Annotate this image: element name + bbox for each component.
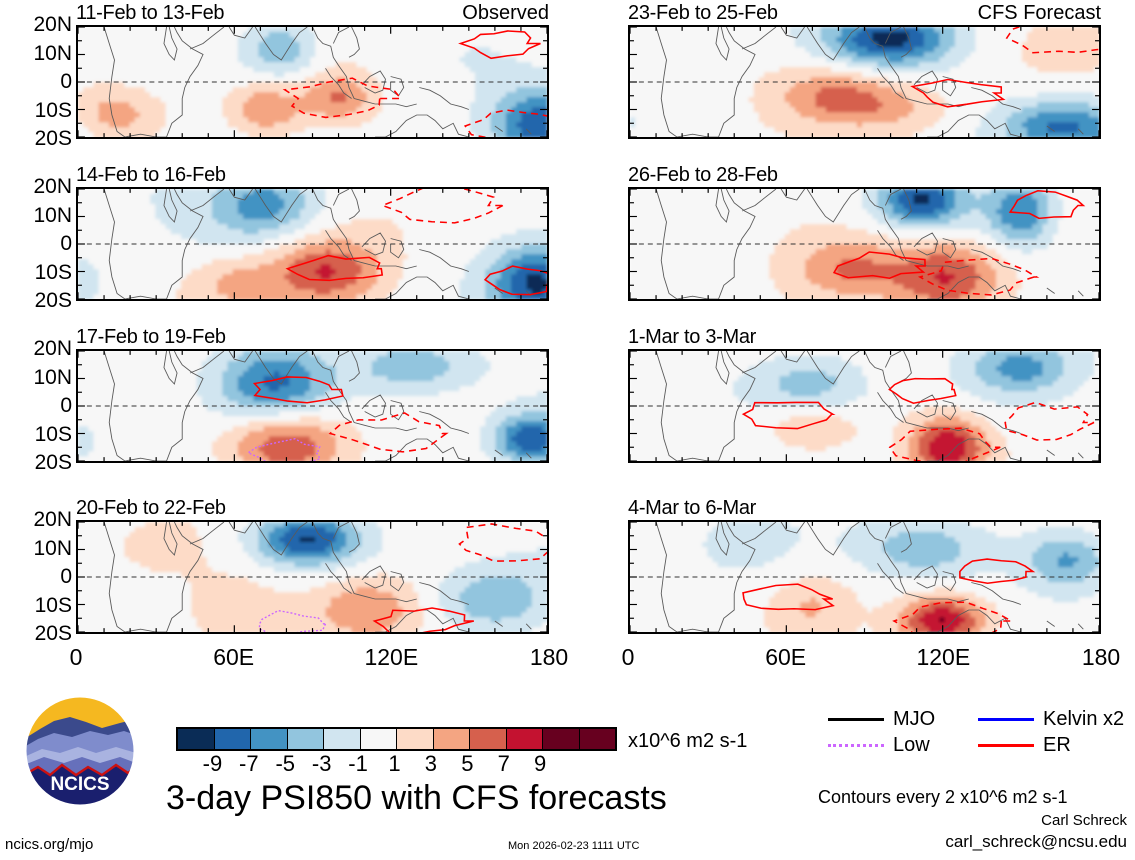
- y-tick-label: 0: [60, 233, 72, 254]
- y-tick-label: 10N: [33, 538, 72, 559]
- colorbar-tick-label: 9: [534, 752, 546, 776]
- colorbar-units-label: x10^6 m2 s-1: [628, 731, 747, 751]
- y-tick-label: 20S: [35, 128, 72, 149]
- map-area: [76, 187, 549, 301]
- panel-column-header: Observed: [462, 3, 549, 23]
- map-area: [76, 520, 549, 634]
- y-axis-labels: 20N10N010S20S: [4, 25, 72, 139]
- colorbar-tick-label: 5: [461, 752, 473, 776]
- y-axis-labels: 20N10N010S20S: [4, 187, 72, 301]
- colorbar-swatch: [434, 729, 471, 749]
- legend-row-top: MJO Kelvin x2: [828, 706, 1128, 732]
- colorbar-swatch: [215, 729, 252, 749]
- map-panel-obs-17-19-feb: 17-Feb to 19-Feb: [76, 349, 549, 463]
- map-area: [628, 25, 1101, 139]
- x-tick-label: 0: [588, 646, 668, 669]
- x-tick-label: 60E: [194, 646, 274, 669]
- y-tick-label: 10S: [35, 262, 72, 283]
- map-panel-cfs-23-25-feb: 23-Feb to 25-FebCFS Forecast: [628, 25, 1101, 139]
- colorbar-swatch: [470, 729, 507, 749]
- map-panel-obs-20-22-feb: 20-Feb to 22-Feb: [76, 520, 549, 634]
- y-tick-label: 10N: [33, 43, 72, 64]
- x-tick-label: 180: [1061, 646, 1135, 669]
- y-tick-label: 0: [60, 71, 72, 92]
- colorbar-tick-label: -5: [275, 752, 295, 776]
- y-tick-label: 10S: [35, 595, 72, 616]
- legend-item-mjo: MJO: [828, 709, 978, 729]
- legend-item-low: Low: [828, 735, 978, 755]
- y-tick-label: 20N: [33, 14, 72, 35]
- mjo-line-icon: [828, 718, 884, 721]
- colorbar-swatch: [543, 729, 580, 749]
- colorbar-tick-label: 1: [388, 752, 400, 776]
- colorbar-ticklabels: -9-7-5-3-113579: [176, 752, 617, 778]
- legend-label-kelvin: Kelvin x2: [1043, 709, 1124, 729]
- legend-row-bottom: Low ER: [828, 732, 1128, 758]
- y-tick-label: 10N: [33, 205, 72, 226]
- site-url-link[interactable]: ncics.org/mjo: [5, 836, 93, 853]
- map-area: [628, 187, 1101, 301]
- ncics-logo-wordmark: NCICS: [50, 774, 109, 795]
- colorbar-swatches: [176, 727, 617, 751]
- page-title: 3-day PSI850 with CFS forecasts: [166, 780, 667, 816]
- colorbar: -9-7-5-3-113579: [176, 727, 617, 778]
- colorbar-tick-label: -3: [312, 752, 332, 776]
- legend-label-mjo: MJO: [893, 709, 935, 729]
- wave-type-legend: MJO Kelvin x2 Low ER: [828, 706, 1128, 758]
- panel-title: 26-Feb to 28-Feb: [628, 165, 778, 185]
- map-area: [76, 25, 549, 139]
- colorbar-swatch: [288, 729, 325, 749]
- colorbar-swatch: [251, 729, 288, 749]
- colorbar-tick-label: -1: [348, 752, 368, 776]
- author-name: Carl Schreck: [1041, 812, 1127, 829]
- y-tick-label: 0: [60, 566, 72, 587]
- colorbar-tick-label: 7: [498, 752, 510, 776]
- map-area: [76, 349, 549, 463]
- x-tick-label: 120E: [351, 646, 431, 669]
- y-tick-label: 20N: [33, 176, 72, 197]
- map-panel-cfs-1-3-mar: 1-Mar to 3-Mar: [628, 349, 1101, 463]
- y-tick-label: 20N: [33, 338, 72, 359]
- map-area: [628, 520, 1101, 634]
- map-panel-obs-11-13-feb: 11-Feb to 13-FebObserved: [76, 25, 549, 139]
- y-axis-labels: 20N10N010S20S: [4, 349, 72, 463]
- y-tick-label: 20S: [35, 623, 72, 644]
- map-area: [628, 349, 1101, 463]
- panel-column-header: CFS Forecast: [978, 3, 1101, 23]
- ncics-logo-svg: NCICS: [24, 695, 136, 807]
- colorbar-swatch: [580, 729, 616, 749]
- panel-title: 20-Feb to 22-Feb: [76, 498, 226, 518]
- colorbar-swatch: [361, 729, 398, 749]
- panel-title: 4-Mar to 6-Mar: [628, 498, 756, 518]
- y-tick-label: 10N: [33, 367, 72, 388]
- x-tick-label: 120E: [903, 646, 983, 669]
- map-panel-cfs-4-6-mar: 4-Mar to 6-Mar: [628, 520, 1101, 634]
- legend-item-kelvin: Kelvin x2: [978, 709, 1128, 729]
- figure-canvas: 11-Feb to 13-FebObserved14-Feb to 16-Feb…: [0, 0, 1135, 860]
- x-tick-label: 180: [509, 646, 589, 669]
- colorbar-tick-label: 3: [425, 752, 437, 776]
- panel-title: 1-Mar to 3-Mar: [628, 327, 756, 347]
- colorbar-tick-label: -9: [203, 752, 223, 776]
- y-tick-label: 10S: [35, 100, 72, 121]
- ncics-logo[interactable]: NCICS: [24, 695, 136, 807]
- map-panel-obs-14-16-feb: 14-Feb to 16-Feb: [76, 187, 549, 301]
- colorbar-tick-label: -7: [239, 752, 259, 776]
- colorbar-swatch: [397, 729, 434, 749]
- colorbar-swatch: [178, 729, 215, 749]
- y-tick-label: 0: [60, 395, 72, 416]
- x-tick-label: 60E: [746, 646, 826, 669]
- kelvin-line-icon: [978, 718, 1034, 721]
- colorbar-swatch: [507, 729, 544, 749]
- author-email[interactable]: carl_schreck@ncsu.edu: [945, 832, 1127, 851]
- low-line-icon: [828, 744, 884, 747]
- colorbar-swatch: [324, 729, 361, 749]
- contour-interval-note: Contours every 2 x10^6 m2 s-1: [818, 787, 1068, 807]
- legend-item-er: ER: [978, 735, 1128, 755]
- map-panel-cfs-26-28-feb: 26-Feb to 28-Feb: [628, 187, 1101, 301]
- legend-label-er: ER: [1043, 735, 1071, 755]
- x-tick-label: 0: [36, 646, 116, 669]
- panel-title: 17-Feb to 19-Feb: [76, 327, 226, 347]
- y-tick-label: 10S: [35, 424, 72, 445]
- panel-title: 14-Feb to 16-Feb: [76, 165, 226, 185]
- legend-label-low: Low: [893, 735, 930, 755]
- generated-timestamp: Mon 2026-02-23 1111 UTC: [508, 840, 639, 853]
- y-tick-label: 20N: [33, 509, 72, 530]
- er-line-icon: [978, 744, 1034, 747]
- panel-title: 23-Feb to 25-Feb: [628, 3, 778, 23]
- y-tick-label: 20S: [35, 452, 72, 473]
- y-tick-label: 20S: [35, 290, 72, 311]
- y-axis-labels: 20N10N010S20S: [4, 520, 72, 634]
- panel-title: 11-Feb to 13-Feb: [76, 3, 224, 23]
